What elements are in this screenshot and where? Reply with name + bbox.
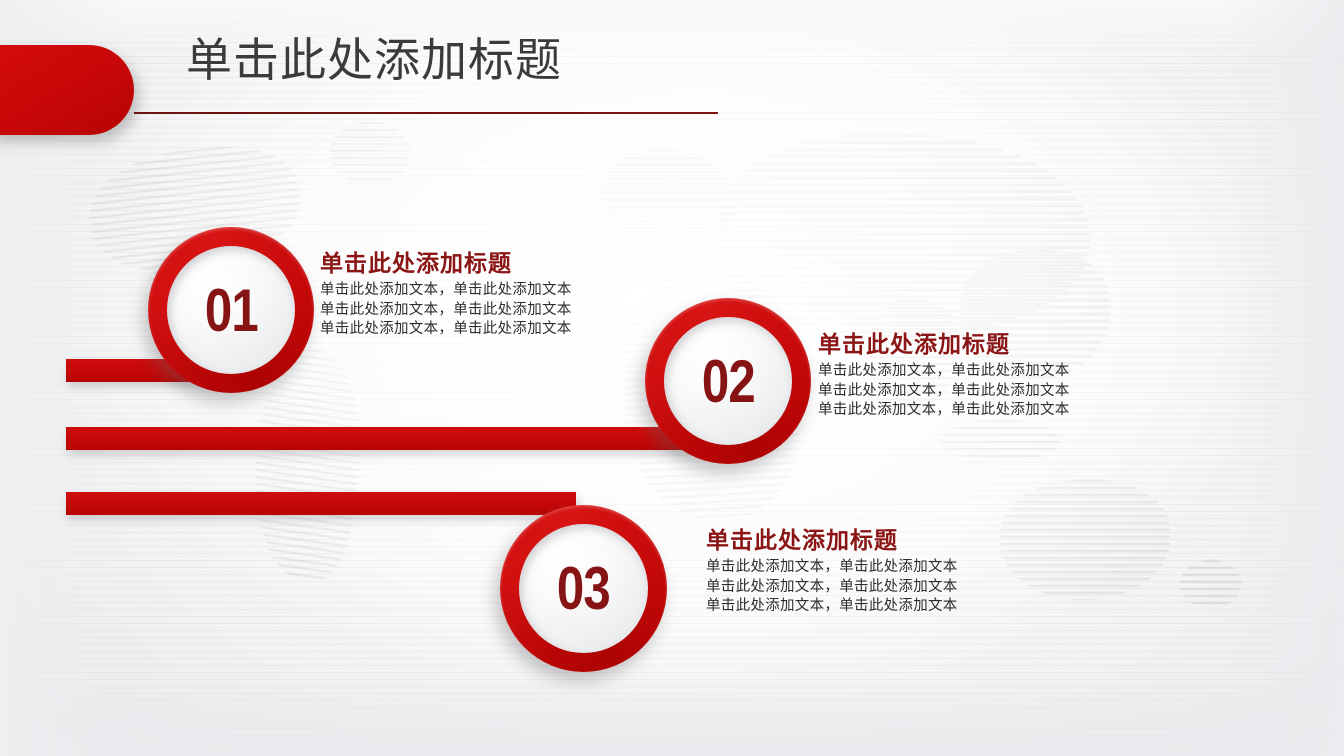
step-body-line-02-3: 单击此处添加文本，单击此处添加文本 [818, 401, 1070, 421]
step-body-line-03-3: 单击此处添加文本，单击此处添加文本 [706, 597, 958, 617]
step-body-line-01-2: 单击此处添加文本，单击此处添加文本 [320, 301, 572, 321]
step-body-line-02-1: 单击此处添加文本，单击此处添加文本 [818, 362, 1070, 382]
step-number-01: 01 [204, 276, 257, 345]
header-red-tab [0, 45, 134, 135]
step-ring-02[interactable]: 02 [645, 298, 811, 464]
connector-bar-3 [66, 492, 576, 515]
step-ring-01[interactable]: 01 [148, 227, 314, 393]
step-text-block-03: 单击此处添加标题 单击此处添加文本，单击此处添加文本 单击此处添加文本，单击此处… [706, 521, 958, 617]
connector-bar-2 [66, 427, 721, 450]
step-ring-inner-02: 02 [664, 317, 792, 445]
step-body-line-01-3: 单击此处添加文本，单击此处添加文本 [320, 320, 572, 340]
step-number-03: 03 [557, 554, 610, 623]
step-body-line-01-1: 单击此处添加文本，单击此处添加文本 [320, 281, 572, 301]
step-heading-01: 单击此处添加标题 [320, 244, 572, 278]
step-heading-03: 单击此处添加标题 [706, 521, 958, 555]
step-ring-03[interactable]: 03 [500, 505, 667, 672]
header-divider [134, 112, 718, 114]
step-number-02: 02 [701, 347, 754, 416]
page-title: 单击此处添加标题 [186, 36, 562, 84]
step-text-block-01: 单击此处添加标题 单击此处添加文本，单击此处添加文本 单击此处添加文本，单击此处… [320, 244, 572, 340]
step-body-line-03-2: 单击此处添加文本，单击此处添加文本 [706, 578, 958, 598]
slide-canvas: 单击此处添加标题 01 单击此处添加标题 单击此处添加文本，单击此处添加文本 单… [0, 0, 1344, 756]
step-text-block-02: 单击此处添加标题 单击此处添加文本，单击此处添加文本 单击此处添加文本，单击此处… [818, 325, 1070, 421]
step-heading-02: 单击此处添加标题 [818, 325, 1070, 359]
step-body-line-02-2: 单击此处添加文本，单击此处添加文本 [818, 382, 1070, 402]
step-ring-inner-03: 03 [519, 524, 648, 653]
step-body-line-03-1: 单击此处添加文本，单击此处添加文本 [706, 558, 958, 578]
step-ring-inner-01: 01 [167, 246, 295, 374]
